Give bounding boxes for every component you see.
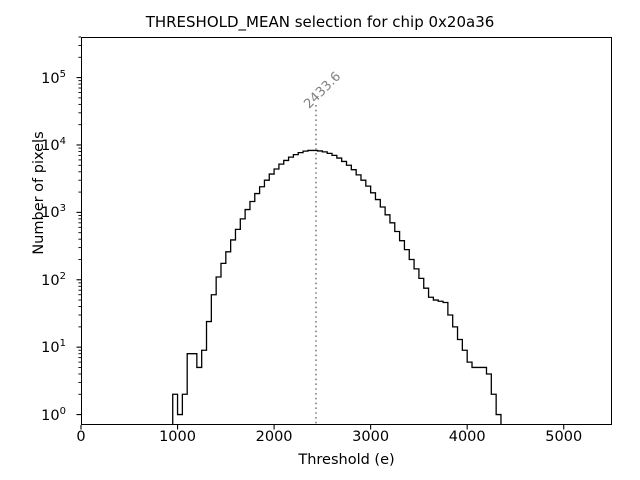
x-axis-label: Threshold (e) — [81, 452, 612, 468]
histogram-plot — [0, 0, 640, 480]
matplotlib-figure: THRESHOLD_MEAN selection for chip 0x20a3… — [0, 0, 640, 480]
y-axis-label: Number of pixels — [31, 68, 47, 318]
y-tick-label: 101 — [41, 338, 66, 356]
x-tick-label: 1000 — [159, 429, 196, 445]
histogram-step-line — [173, 150, 501, 425]
x-tick-label: 4000 — [449, 429, 486, 445]
y-tick-label: 100 — [41, 406, 66, 424]
x-tick-label: 5000 — [545, 429, 582, 445]
x-tick-label: 0 — [76, 429, 85, 445]
x-tick-label: 2000 — [256, 429, 293, 445]
x-tick-label: 3000 — [352, 429, 389, 445]
